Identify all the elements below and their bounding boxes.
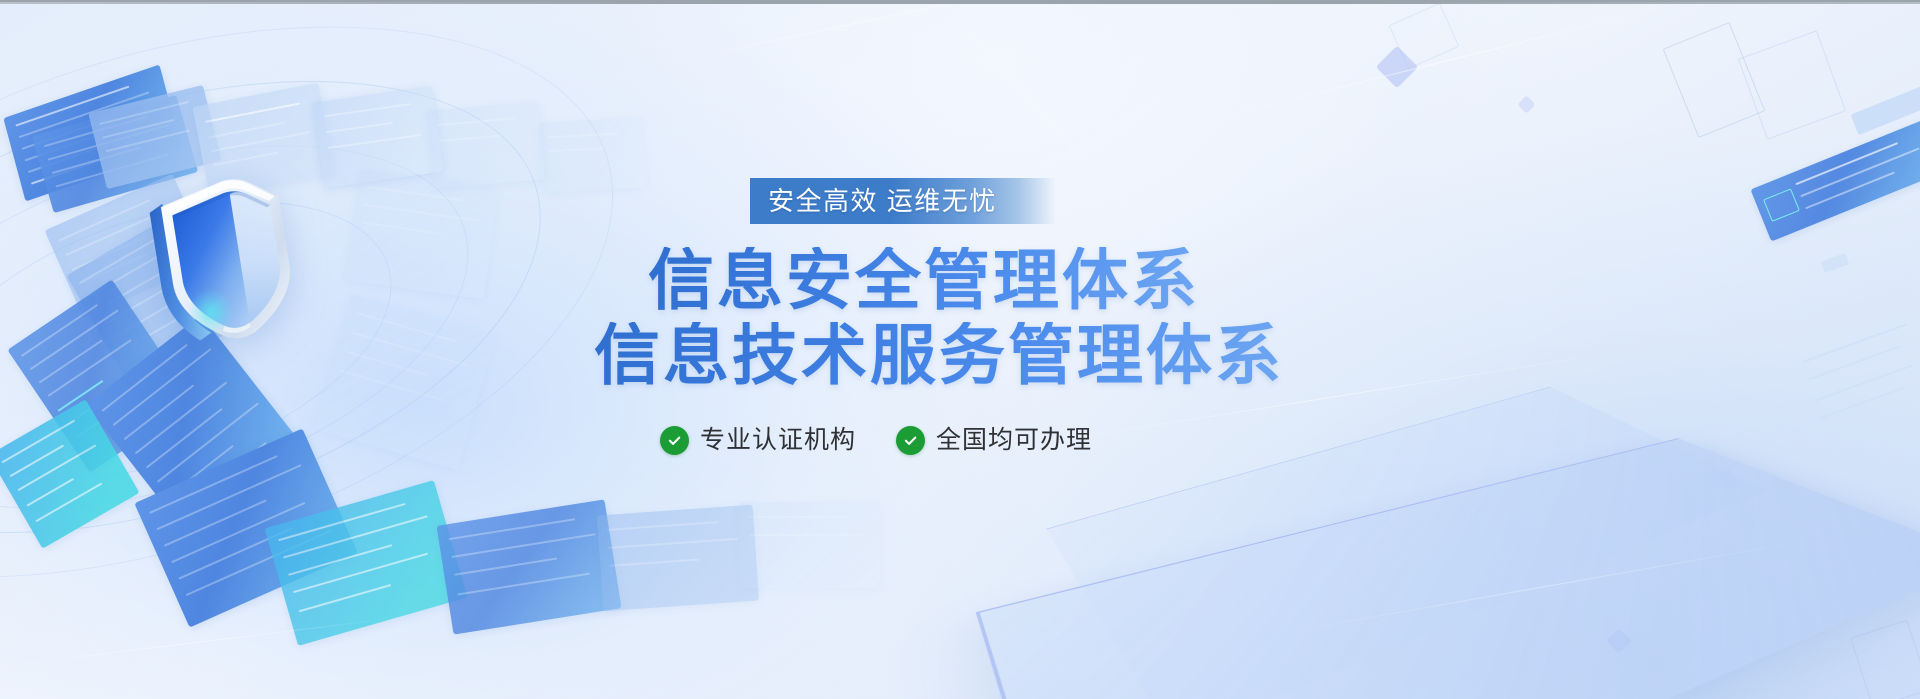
- page-title-line-1: 信息安全管理体系: [648, 247, 1200, 313]
- hero-banner: 安全高效 运维无忧 信息安全管理体系 信息技术服务管理体系 专业认证机构: [0, 0, 1920, 699]
- tagline-text: 安全高效 运维无忧: [750, 188, 997, 214]
- check-circle-icon: [896, 426, 925, 455]
- feature-list: 专业认证机构 全国均可办理: [660, 426, 1092, 455]
- feature-label-2: 全国均可办理: [936, 428, 1092, 453]
- page-title-line-2: 信息技术服务管理体系: [594, 322, 1284, 388]
- tagline-badge: 安全高效 运维无忧: [750, 178, 1056, 224]
- feature-item-2: 全国均可办理: [896, 426, 1092, 455]
- feature-item-1: 专业认证机构: [660, 426, 856, 455]
- feature-label-1: 专业认证机构: [700, 428, 856, 453]
- top-border-line: [0, 2, 1920, 4]
- banner-content: 安全高效 运维无忧 信息安全管理体系 信息技术服务管理体系 专业认证机构: [0, 2, 1920, 699]
- check-circle-icon: [660, 426, 689, 455]
